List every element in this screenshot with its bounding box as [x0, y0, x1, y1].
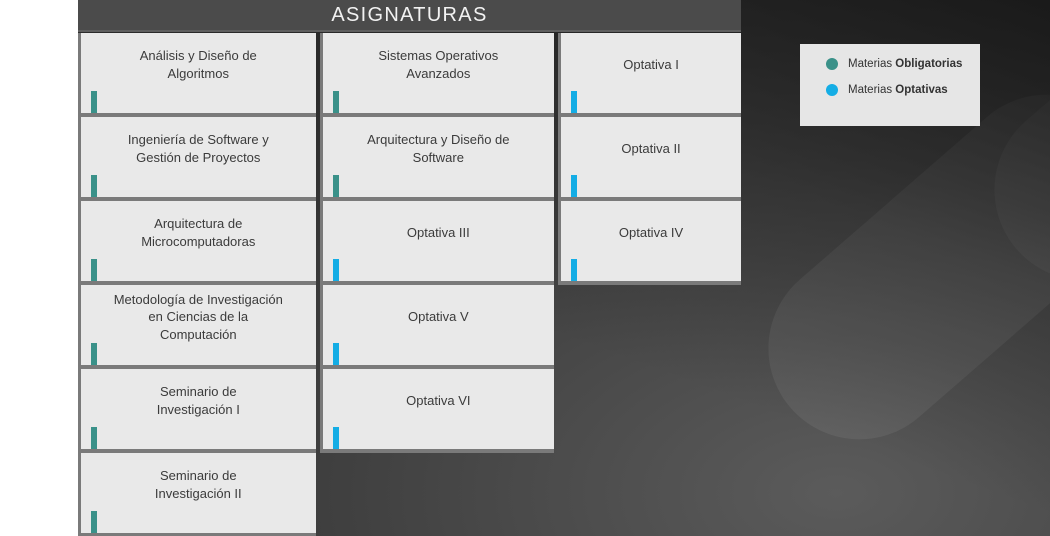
legend-item-prefix: Materias — [848, 84, 895, 96]
subjects-grid-row: Seminario de Investigación II — [78, 453, 741, 536]
subject-card-label: Seminario de Investigación II — [141, 467, 256, 518]
subject-card[interactable]: Optativa V — [320, 285, 555, 369]
subject-card[interactable]: Arquitectura de Microcomputadoras — [78, 201, 316, 285]
subject-card[interactable]: Ingeniería de Software y Gestión de Proy… — [78, 117, 316, 201]
subject-type-marker-obligatoria — [91, 259, 97, 281]
subject-type-marker-obligatoria — [91, 91, 97, 113]
subject-card-label: Análisis y Diseño de Algoritmos — [126, 47, 271, 98]
grid-cell-empty — [558, 285, 741, 369]
subject-type-marker-obligatoria — [91, 343, 97, 365]
subjects-grid: Análisis y Diseño de AlgoritmosSistemas … — [78, 33, 741, 536]
subject-card[interactable]: Sistemas Operativos Avanzados — [320, 33, 555, 117]
subject-card-label: Ingeniería de Software y Gestión de Proy… — [114, 131, 283, 182]
subject-type-marker-optativa — [571, 259, 577, 281]
legend-dot-icon-obligatoria — [826, 58, 838, 70]
subject-card-label: Sistemas Operativos Avanzados — [364, 47, 512, 98]
legend-item-emphasis: Obligatorias — [895, 58, 962, 70]
subject-type-marker-optativa — [333, 427, 339, 449]
subject-card[interactable]: Optativa IV — [558, 201, 741, 285]
subject-type-marker-obligatoria — [333, 91, 339, 113]
legend-item-label: Materias Optativas — [848, 84, 948, 96]
legend-item-optativa: Materias Optativas — [826, 84, 980, 96]
subjects-grid-row: Análisis y Diseño de AlgoritmosSistemas … — [78, 33, 741, 117]
subjects-grid-row: Metodología de Investigación en Ciencias… — [78, 285, 741, 369]
subject-type-marker-obligatoria — [91, 427, 97, 449]
legend-item-prefix: Materias — [848, 58, 895, 70]
subject-card-label: Optativa V — [394, 308, 483, 342]
subject-card[interactable]: Optativa III — [320, 201, 555, 285]
legend-item-emphasis: Optativas — [895, 84, 947, 96]
subject-type-marker-optativa — [333, 343, 339, 365]
subject-type-marker-optativa — [333, 259, 339, 281]
slide-canvas: ASIGNATURAS Análisis y Diseño de Algorit… — [0, 0, 1050, 536]
subject-card-label: Metodología de Investigación en Ciencias… — [100, 291, 297, 360]
subject-card[interactable]: Metodología de Investigación en Ciencias… — [78, 285, 316, 369]
grid-cell-empty — [320, 453, 555, 536]
subject-type-marker-obligatoria — [333, 175, 339, 197]
subject-card[interactable]: Arquitectura y Diseño de Software — [320, 117, 555, 201]
subject-card-label: Seminario de Investigación I — [143, 383, 254, 434]
subject-card[interactable]: Seminario de Investigación II — [78, 453, 316, 536]
subject-card-label: Optativa IV — [605, 224, 697, 258]
subject-card[interactable]: Seminario de Investigación I — [78, 369, 316, 453]
subject-card-label: Optativa VI — [392, 392, 484, 426]
subject-card-label: Optativa I — [609, 56, 693, 90]
subject-type-marker-optativa — [571, 91, 577, 113]
legend-item-label: Materias Obligatorias — [848, 58, 962, 70]
subject-type-marker-optativa — [571, 175, 577, 197]
subject-card-label: Optativa II — [607, 140, 694, 174]
subject-card-label: Optativa III — [393, 224, 484, 258]
subjects-grid-row: Ingeniería de Software y Gestión de Proy… — [78, 117, 741, 201]
header-band: ASIGNATURAS — [78, 0, 741, 32]
grid-cell-empty — [558, 369, 741, 453]
subject-type-marker-obligatoria — [91, 511, 97, 533]
subjects-grid-row: Arquitectura de MicrocomputadorasOptativ… — [78, 201, 741, 285]
subject-card-label: Arquitectura de Microcomputadoras — [127, 215, 269, 266]
legend-box: Materias ObligatoriasMaterias Optativas — [800, 44, 980, 126]
page-title: ASIGNATURAS — [331, 5, 487, 25]
legend-dot-icon-optativa — [826, 84, 838, 96]
legend-item-obligatoria: Materias Obligatorias — [826, 58, 980, 70]
subject-card-label: Arquitectura y Diseño de Software — [353, 131, 523, 182]
subject-card[interactable]: Optativa I — [558, 33, 741, 117]
subjects-grid-row: Seminario de Investigación IOptativa VI — [78, 369, 741, 453]
grid-cell-empty — [558, 453, 741, 536]
subject-card[interactable]: Optativa VI — [320, 369, 555, 453]
subject-type-marker-obligatoria — [91, 175, 97, 197]
subject-card[interactable]: Análisis y Diseño de Algoritmos — [78, 33, 316, 117]
subject-card[interactable]: Optativa II — [558, 117, 741, 201]
